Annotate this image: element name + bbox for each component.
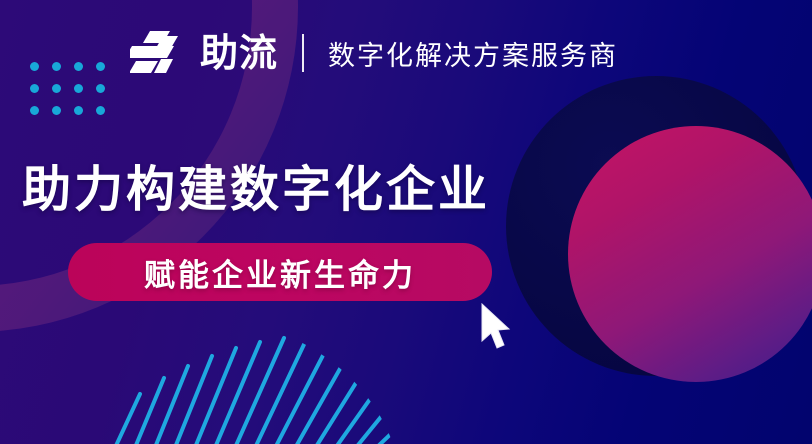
grid-dot	[74, 62, 83, 71]
page-title: 助力构建数字化企业	[22, 150, 490, 221]
grid-dot	[74, 106, 83, 115]
header-tagline: 数字化解决方案服务商	[328, 34, 618, 73]
grid-dot	[30, 106, 39, 115]
diagonal-line-fan-pattern-icon	[96, 320, 416, 444]
cta-button-label: 赋能企业新生命力	[144, 250, 416, 295]
grid-dot	[30, 84, 39, 93]
banner-header: 助流 数字化解决方案服务商	[130, 22, 618, 84]
header-divider	[302, 34, 304, 72]
grid-dot	[52, 84, 61, 93]
grid-dot	[52, 62, 61, 71]
cta-button[interactable]: 赋能企业新生命力	[68, 243, 492, 301]
grid-dot	[96, 62, 105, 71]
promo-banner: 助流 数字化解决方案服务商 助力构建数字化企业 赋能企业新生命力	[0, 0, 812, 444]
dot-grid-pattern-icon	[30, 62, 118, 128]
grid-dot	[30, 62, 39, 71]
magenta-circle-shape	[568, 126, 812, 382]
mouse-cursor-arrow-icon	[480, 303, 514, 351]
grid-dot	[74, 84, 83, 93]
grid-dot	[96, 84, 105, 93]
grid-dot	[52, 106, 61, 115]
logo-text: 助流	[200, 34, 278, 72]
lightning-bolt-icon	[130, 29, 182, 77]
grid-dot	[96, 106, 105, 115]
